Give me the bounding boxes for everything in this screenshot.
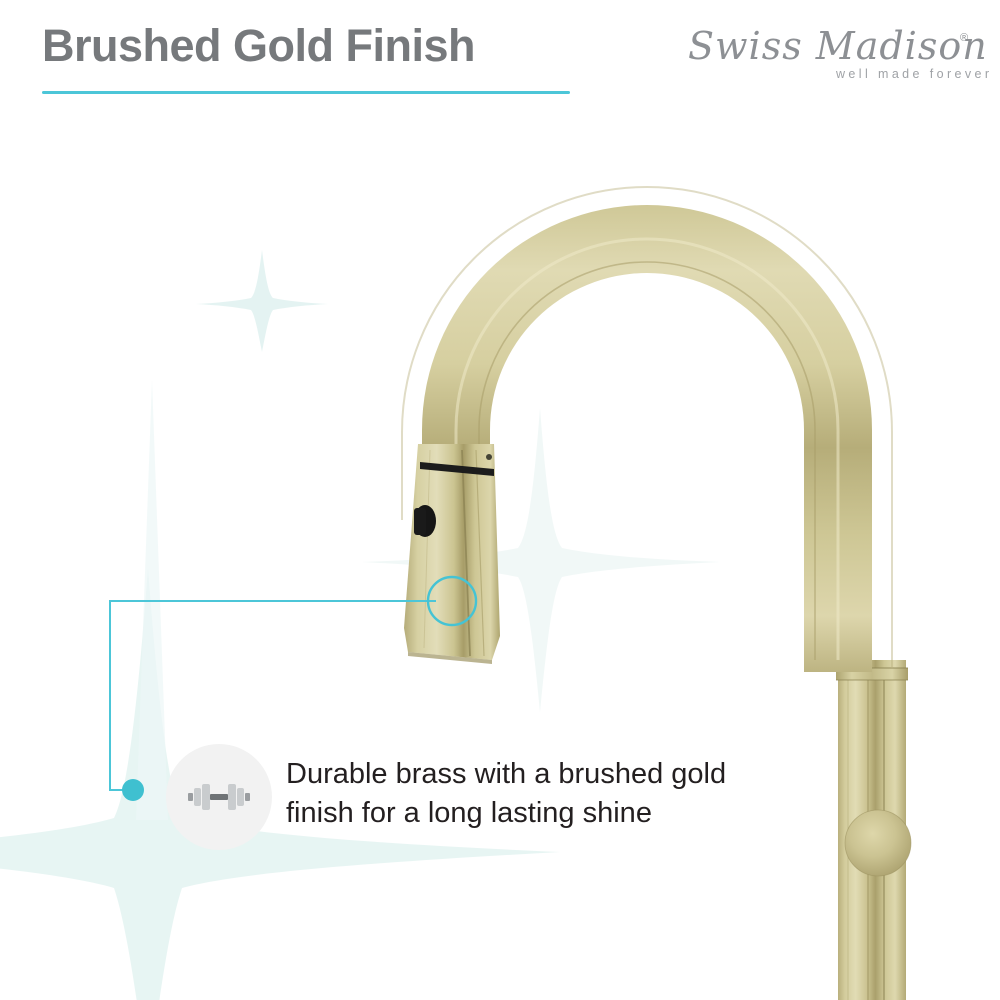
faucet-image	[0, 0, 1000, 1000]
dumbbell-icon	[188, 780, 250, 814]
registered-mark: ®	[960, 32, 968, 44]
brand-name: Swiss Madison	[688, 24, 988, 68]
feature-text-line-1: Durable brass with a brushed gold	[286, 755, 806, 794]
feature-icon-badge	[166, 744, 272, 850]
brand-logo: Swiss Madison ® well made forever	[688, 24, 978, 86]
brand-tagline: well made forever	[836, 67, 992, 81]
faucet-handle-disc	[845, 810, 911, 876]
page-title: Brushed Gold Finish	[42, 20, 475, 72]
spray-head-screw	[486, 454, 492, 460]
feature-text-line-2: finish for a long lasting shine	[286, 794, 806, 833]
feature-description: Durable brass with a brushed gold finish…	[286, 755, 806, 832]
faucet-spray-head	[404, 444, 500, 664]
product-feature-graphic: Brushed Gold Finish Swiss Madison ® well…	[0, 0, 1000, 1000]
title-underline	[42, 91, 570, 94]
